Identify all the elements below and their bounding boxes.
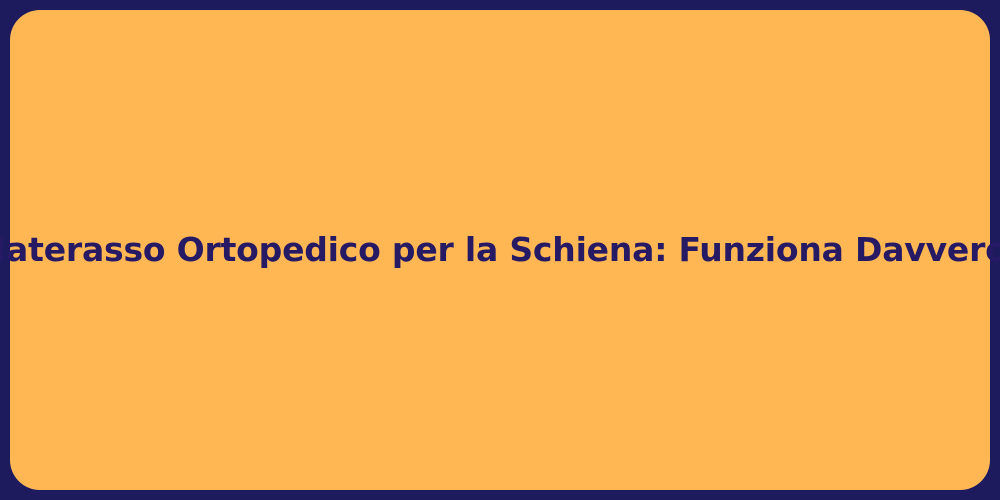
article-title-card: Materasso Ortopedico per la Schiena: Fun… xyxy=(0,0,1000,500)
card-panel: Materasso Ortopedico per la Schiena: Fun… xyxy=(10,10,990,490)
page-title: Materasso Ortopedico per la Schiena: Fun… xyxy=(0,229,1000,270)
